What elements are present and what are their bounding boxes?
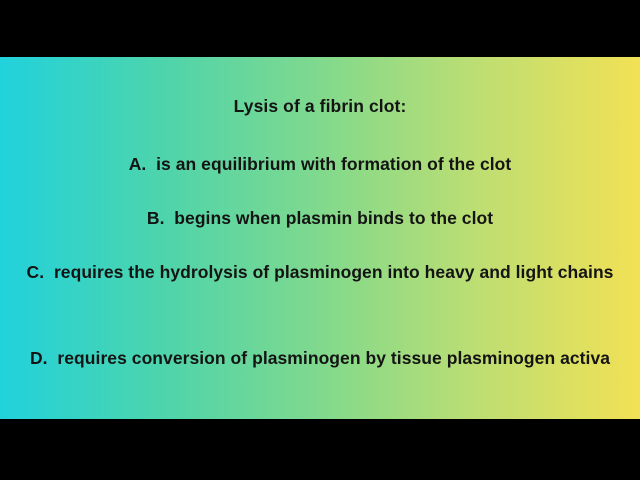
- slide-frame: Lysis of a fibrin clot: A. is an equilib…: [0, 0, 640, 480]
- question-title: Lysis of a fibrin clot:: [0, 96, 640, 117]
- answer-option-b[interactable]: B. begins when plasmin binds to the clot: [0, 207, 640, 230]
- letterbox-bar-bottom: [0, 419, 640, 480]
- question-slide-content: Lysis of a fibrin clot: A. is an equilib…: [0, 57, 640, 419]
- answer-option-d[interactable]: D. requires conversion of plasminogen by…: [0, 347, 640, 370]
- answer-option-c[interactable]: C. requires the hydrolysis of plasminoge…: [0, 261, 640, 284]
- letterbox-bar-top: [0, 0, 640, 57]
- answer-option-a[interactable]: A. is an equilibrium with formation of t…: [0, 153, 640, 176]
